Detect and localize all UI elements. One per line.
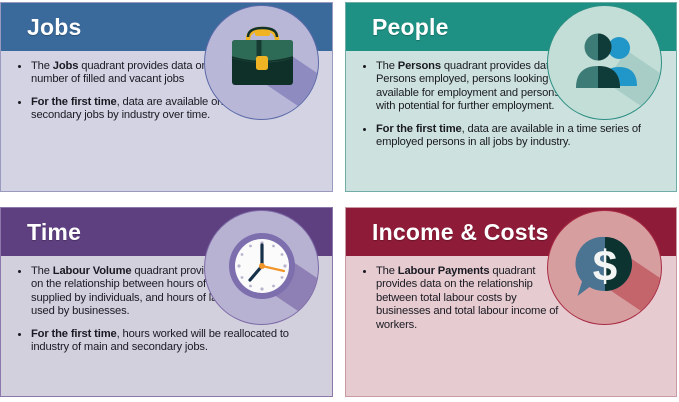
people-icon [547,5,662,120]
quadrant-infographic: Jobs The Jobs quadrant provides data on … [0,0,679,402]
bullet-emphasis: Persons [398,60,441,72]
list-item: The Jobs quadrant provides data on the n… [15,60,227,87]
card-time-title: Time [1,219,81,246]
briefcase-glyph [205,6,318,119]
bullet-lead: The [376,60,398,72]
card-income-title: Income & Costs [346,219,549,246]
bullet-emphasis: Labour Payments [398,265,490,277]
bullet-emphasis: Jobs [53,60,79,72]
card-people: People The Persons quadrant provides dat… [345,2,677,192]
clock-icon [204,210,319,325]
list-item: For the first time, data are available i… [360,123,666,150]
bullet-lead: The [31,60,53,72]
bullet-lead: The [376,265,398,277]
bullet-emphasis: For the first time [31,96,117,108]
bullet-lead: The [31,265,53,277]
card-time: Time The Labour Volume quadrant provides… [0,207,333,397]
dollar-speech-bubble-icon: $ [547,210,662,325]
bullet-emphasis: For the first time [31,328,117,340]
list-item: For the first time, hours worked will be… [15,328,322,355]
bullet-emphasis: Labour Volume [53,265,132,277]
card-people-title: People [346,14,449,41]
dollar-speech-bubble-glyph: $ [548,211,661,324]
svg-text:$: $ [593,242,617,291]
briefcase-icon [204,5,319,120]
people-glyph [548,6,661,119]
list-item: The Labour Payments quadrant provides da… [360,265,564,332]
card-jobs-title: Jobs [1,14,81,41]
bullet-emphasis: For the first time [376,123,462,135]
card-income-and-costs: Income & Costs The Labour Payments quadr… [345,207,677,397]
clock-glyph [205,211,318,324]
card-jobs: Jobs The Jobs quadrant provides data on … [0,2,333,192]
